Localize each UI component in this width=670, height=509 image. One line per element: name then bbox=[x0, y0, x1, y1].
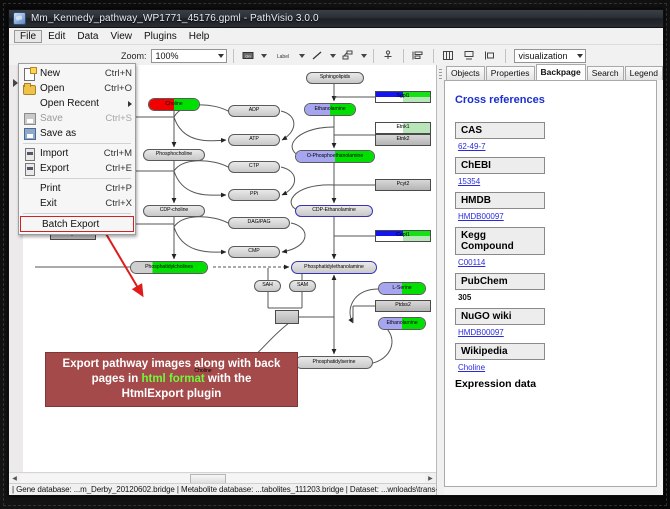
menu-item-label: Save bbox=[40, 113, 99, 124]
datanode-dropdown-icon[interactable] bbox=[261, 54, 267, 58]
xref-link[interactable]: 62-49-7 bbox=[458, 142, 486, 151]
node-label: Ethanolamine bbox=[386, 321, 417, 326]
tab-objects[interactable]: Objects bbox=[446, 66, 485, 80]
xref-name-hmdb: HMDB bbox=[455, 192, 545, 209]
menu-item-label: Import bbox=[40, 148, 98, 159]
node-label: SAH bbox=[262, 283, 273, 288]
chevron-down-icon-2 bbox=[577, 54, 583, 58]
side-panel-tabs: ObjectsPropertiesBackpageSearchLegend bbox=[444, 65, 663, 80]
node-label: CMP bbox=[248, 249, 259, 254]
tab-backpage[interactable]: Backpage bbox=[536, 64, 586, 80]
menu-item-no-icon bbox=[22, 197, 36, 210]
scroll-track[interactable] bbox=[20, 474, 425, 483]
node-label: ADP bbox=[249, 108, 260, 113]
menu-item-label: New bbox=[40, 68, 99, 79]
interaction-dropdown-icon[interactable] bbox=[361, 54, 367, 58]
zoom-value: 100% bbox=[156, 51, 179, 61]
menu-separator bbox=[23, 143, 131, 144]
menu-file[interactable]: File bbox=[14, 30, 42, 43]
label-dropdown-icon[interactable] bbox=[299, 54, 305, 58]
datanode-icon[interactable]: Gn bbox=[240, 47, 257, 64]
xref-link[interactable]: 15354 bbox=[458, 177, 480, 186]
menu-item-label: Open bbox=[40, 83, 98, 94]
toolbar-divider-2 bbox=[373, 49, 374, 63]
node-label: Choline bbox=[165, 102, 182, 107]
menu-item-shortcut: Ctrl+P bbox=[99, 183, 132, 194]
tab-properties[interactable]: Properties bbox=[486, 66, 535, 80]
node-label: CDP-Ethanolamine bbox=[312, 208, 356, 213]
anchor-icon[interactable] bbox=[380, 47, 397, 64]
xref-link[interactable]: Choline bbox=[458, 363, 485, 372]
file-menu-item-new[interactable]: NewCtrl+N bbox=[19, 66, 135, 81]
backpage-content: Cross references CAS62-49-7ChEBI15354HMD… bbox=[444, 80, 657, 487]
file-menu-item-open[interactable]: OpenCtrl+O bbox=[19, 81, 135, 96]
xref-value-nugo-wiki[interactable]: HMDB00097 bbox=[458, 328, 646, 337]
menu-item-label: Print bbox=[40, 183, 99, 194]
zoom-label: Zoom: bbox=[121, 51, 147, 61]
callout-line-1: Export pathway images along with back bbox=[63, 358, 281, 370]
label-icon[interactable]: Label bbox=[271, 47, 295, 64]
cross-reference-row: WikipediaCholine bbox=[455, 343, 646, 372]
xref-value-hmdb[interactable]: HMDB00097 bbox=[458, 212, 646, 221]
node-label: Phosphocholine bbox=[156, 152, 192, 157]
menu-item-no-icon bbox=[22, 97, 36, 110]
node-label: O-Phosphoethanolamine bbox=[307, 154, 363, 159]
xref-name-nugo-wiki: NuGO wiki bbox=[455, 308, 545, 325]
toolbar-divider bbox=[233, 49, 234, 63]
xref-link[interactable]: HMDB00097 bbox=[458, 328, 504, 337]
align-icon[interactable] bbox=[410, 47, 427, 64]
new-document-icon bbox=[22, 67, 36, 80]
cross-reference-row: HMDBHMDB00097 bbox=[455, 192, 646, 221]
node-label: Pcyt2 bbox=[397, 182, 410, 187]
node-label: Ptdss2 bbox=[395, 303, 411, 308]
file-menu-item-print[interactable]: PrintCtrl+P bbox=[19, 181, 135, 196]
xref-name-chebi: ChEBI bbox=[455, 157, 545, 174]
node-label: Etnk2 bbox=[396, 137, 409, 142]
visualization-value: visualization bbox=[519, 51, 568, 61]
menu-item-shortcut: Ctrl+X bbox=[99, 198, 132, 209]
tab-legend[interactable]: Legend bbox=[625, 66, 663, 80]
grip-dots-icon bbox=[439, 69, 442, 79]
menu-edit[interactable]: Edit bbox=[42, 30, 71, 43]
expression-data-title: Expression data bbox=[455, 378, 646, 390]
xref-name-pubchem: PubChem bbox=[455, 273, 545, 290]
menu-item-shortcut: Ctrl+S bbox=[99, 113, 132, 124]
file-menu-item-exit[interactable]: ExitCtrl+X bbox=[19, 196, 135, 211]
menu-item-shortcut: Ctrl+E bbox=[99, 163, 132, 174]
node-label: Ethanolamine bbox=[314, 107, 345, 112]
file-menu-item-save-as[interactable]: Save as bbox=[19, 126, 135, 141]
save-as-disk-icon bbox=[22, 127, 36, 140]
svg-text:Gn: Gn bbox=[245, 53, 250, 58]
screenshot-root: Mm_Kennedy_pathway_WP1771_45176.gpml - P… bbox=[0, 0, 670, 509]
visualization-combo[interactable]: visualization bbox=[514, 49, 586, 63]
zoom-combo[interactable]: 100% bbox=[151, 49, 227, 63]
menu-view[interactable]: View bbox=[104, 30, 138, 43]
status-bar: | Gene database: ...m_Derby_20120602.bri… bbox=[9, 483, 436, 495]
xref-name-wikipedia: Wikipedia bbox=[455, 343, 545, 360]
group-icon[interactable] bbox=[461, 47, 478, 64]
xref-value-kegg-compound[interactable]: C00114 bbox=[458, 258, 646, 267]
menu-item-label: Save as bbox=[40, 128, 132, 139]
callout-highlight: html format bbox=[141, 373, 204, 385]
menu-item-shortcut: Ctrl+N bbox=[99, 68, 132, 79]
menu-data[interactable]: Data bbox=[71, 30, 104, 43]
callout-line-2b: with the bbox=[205, 373, 252, 385]
menu-item-label: Export bbox=[40, 163, 99, 174]
toolbar-divider-3 bbox=[403, 49, 404, 63]
node-label: Etnk1 bbox=[396, 125, 409, 130]
menu-item-label: Exit bbox=[40, 198, 99, 209]
xref-value-cas[interactable]: 62-49-7 bbox=[458, 142, 646, 151]
cross-reference-row: CAS62-49-7 bbox=[455, 122, 646, 151]
pathvisio-window: Mm_Kennedy_pathway_WP1771_45176.gpml - P… bbox=[8, 9, 664, 496]
xref-link[interactable]: HMDB00097 bbox=[458, 212, 504, 221]
xref-link[interactable]: C00114 bbox=[458, 258, 485, 267]
node-label: Choline bbox=[194, 369, 211, 374]
node-label: L-Serine bbox=[392, 286, 411, 291]
cross-reference-row: NuGO wikiHMDB00097 bbox=[455, 308, 646, 337]
cross-reference-row: PubChem305 bbox=[455, 273, 646, 302]
toolbar-divider-4 bbox=[433, 49, 434, 63]
side-panel: ObjectsPropertiesBackpageSearchLegend Cr… bbox=[437, 65, 663, 495]
node-label: ATP bbox=[249, 137, 259, 142]
node-label: Sgpl1 bbox=[396, 94, 409, 99]
title-bar: Mm_Kennedy_pathway_WP1771_45176.gpml - P… bbox=[9, 10, 663, 28]
node-label: CDP-choline bbox=[160, 208, 189, 213]
xref-name-cas: CAS bbox=[455, 122, 545, 139]
menu-item-label: Open Recent bbox=[40, 98, 124, 109]
interaction-icon[interactable] bbox=[340, 47, 357, 64]
import-icon bbox=[22, 147, 36, 160]
xref-value-pubchem: 305 bbox=[458, 293, 646, 302]
xref-value-chebi[interactable]: 15354 bbox=[458, 177, 646, 186]
cross-reference-row: Kegg CompoundC00114 bbox=[455, 227, 646, 267]
cross-reference-list: CAS62-49-7ChEBI15354HMDBHMDB00097Kegg Co… bbox=[455, 122, 646, 372]
status-text: | Gene database: ...m_Derby_20120602.bri… bbox=[9, 485, 474, 494]
menu-item-shortcut: Ctrl+M bbox=[98, 148, 132, 159]
file-menu-item-import[interactable]: ImportCtrl+M bbox=[19, 146, 135, 161]
save-disk-icon bbox=[22, 112, 36, 125]
xref-value-wikipedia[interactable]: Choline bbox=[458, 363, 646, 372]
cross-reference-row: ChEBI15354 bbox=[455, 157, 646, 186]
annotation-callout: Export pathway images along with back pa… bbox=[45, 352, 298, 407]
menu-separator bbox=[23, 213, 131, 214]
callout-line-2a: pages in bbox=[92, 373, 142, 385]
menu-help[interactable]: Help bbox=[183, 30, 216, 43]
window-title: Mm_Kennedy_pathway_WP1771_45176.gpml - P… bbox=[31, 13, 319, 24]
file-menu-dropdown[interactable]: NewCtrl+NOpenCtrl+OOpen RecentSaveCtrl+S… bbox=[18, 63, 136, 235]
node-label: Phosphatidylethanolamine bbox=[304, 265, 364, 270]
node-label: SAM bbox=[297, 283, 308, 288]
open-folder-icon bbox=[22, 82, 36, 95]
xref-name-kegg-compound: Kegg Compound bbox=[455, 227, 545, 255]
export-icon bbox=[22, 162, 36, 175]
menu-separator bbox=[23, 178, 131, 179]
pathvisio-icon bbox=[13, 12, 26, 25]
cross-references-title: Cross references bbox=[455, 94, 646, 106]
menu-item-label: Batch Export bbox=[42, 219, 130, 230]
node-label: Phosphatidylserine bbox=[313, 360, 356, 365]
node-label: PPi bbox=[250, 192, 258, 197]
chevron-down-icon bbox=[218, 54, 224, 58]
file-menu-item-save[interactable]: SaveCtrl+S bbox=[19, 111, 135, 126]
callout-line-3: HtmlExport plugin bbox=[122, 388, 222, 400]
menu-item-no-icon bbox=[24, 218, 38, 231]
node-label: Phosphatidylcholines bbox=[145, 265, 193, 270]
menu-plugins[interactable]: Plugins bbox=[138, 30, 183, 43]
node-label: Sphingolipids bbox=[320, 75, 350, 80]
menu-item-no-icon bbox=[22, 182, 36, 195]
svg-text:Label: Label bbox=[276, 54, 288, 60]
order-icon[interactable] bbox=[482, 47, 499, 64]
node-label: CTP bbox=[249, 164, 259, 169]
menu-bar: File Edit Data View Plugins Help bbox=[9, 28, 663, 45]
stack-icon[interactable] bbox=[440, 47, 457, 64]
file-menu-item-open-recent[interactable]: Open Recent bbox=[19, 96, 135, 111]
line-icon[interactable] bbox=[309, 47, 326, 64]
file-menu-item-batch-export[interactable]: Batch Export bbox=[20, 216, 134, 232]
panel-drag-handle[interactable] bbox=[437, 65, 444, 495]
line-dropdown-icon[interactable] bbox=[330, 54, 336, 58]
toolbar-divider-5 bbox=[505, 49, 506, 63]
tab-search[interactable]: Search bbox=[587, 66, 624, 80]
menu-item-shortcut: Ctrl+O bbox=[98, 83, 132, 94]
node-label: Cept1 bbox=[396, 233, 410, 238]
file-menu-item-export[interactable]: ExportCtrl+E bbox=[19, 161, 135, 176]
submenu-arrow-icon bbox=[128, 101, 132, 107]
node-label: DAG/PAG bbox=[248, 220, 271, 225]
